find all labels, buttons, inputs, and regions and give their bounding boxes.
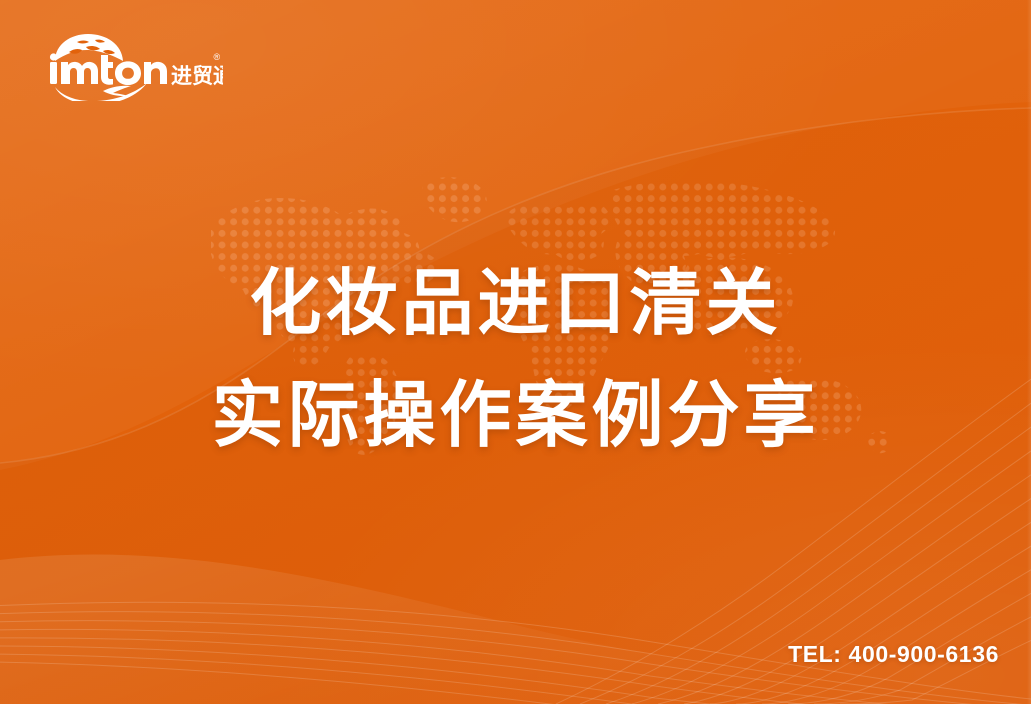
brand-logo[interactable]: 进贸通 ®	[43, 31, 223, 101]
logo-wordmark	[50, 53, 167, 85]
page-title: 化妆品进口清关 实际操作案例分享	[0, 248, 1031, 472]
background-gradient	[0, 0, 1031, 704]
globe-dome-icon	[55, 34, 123, 61]
contact-phone: TEL: 400-900-6136	[788, 641, 999, 668]
title-line-1: 化妆品进口清关	[0, 248, 1031, 360]
swoosh-arrow-icon	[55, 83, 147, 101]
registered-mark-icon: ®	[214, 52, 221, 62]
title-line-2: 实际操作案例分享	[0, 360, 1031, 472]
cover-banner: 进贸通 ® 化妆品进口清关 实际操作案例分享 TEL: 400-900-6136	[0, 0, 1031, 704]
dotted-world-map	[193, 158, 893, 458]
right-edge-highlight	[1027, 0, 1031, 704]
radial-hairlines	[0, 0, 1031, 704]
logo-chinese-name: 进贸通	[171, 64, 223, 88]
wave-ribbon	[0, 0, 1031, 704]
